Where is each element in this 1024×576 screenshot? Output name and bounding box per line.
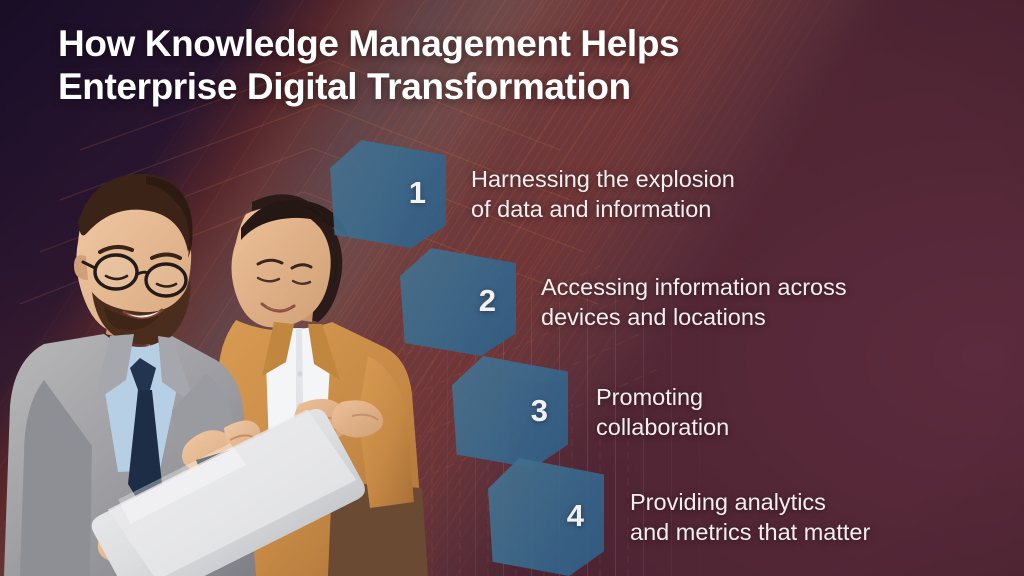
list-item-2: 2 Accessing information across devices a… (400, 248, 847, 356)
hexagon-number-3: 3 (531, 393, 568, 431)
list-item-2-line-1: Accessing information across (541, 272, 847, 302)
hexagon-number-1: 1 (409, 175, 446, 213)
hexagon-badge-2: 2 (400, 248, 516, 356)
slide-title: How Knowledge Management Helps Enterpris… (58, 22, 918, 109)
hexagon-number-2: 2 (479, 283, 516, 321)
list-item-1: 1 Harnessing the explosion of data and i… (330, 140, 735, 248)
list-item-3-line-2: collaboration (596, 412, 729, 442)
hexagon-badge-3: 3 (452, 356, 568, 468)
list-item-4-line-1: Providing analytics (630, 487, 870, 517)
list-item-1-line-1: Harnessing the explosion (471, 164, 735, 194)
title-line-1: How Knowledge Management Helps (58, 22, 918, 65)
slide-canvas: How Knowledge Management Helps Enterpris… (0, 0, 1024, 576)
list-item-1-text: Harnessing the explosion of data and inf… (471, 164, 735, 224)
list-item-1-line-2: of data and information (471, 194, 735, 224)
hexagon-badge-4: 4 (488, 458, 604, 576)
list-item-2-line-2: devices and locations (541, 302, 847, 332)
hexagon-badge-1: 1 (330, 140, 446, 248)
list-item-3-line-1: Promoting (596, 382, 729, 412)
list-item-4-text: Providing analytics and metrics that mat… (630, 487, 870, 547)
list-item-4: 4 Providing analytics and metrics that m… (488, 458, 870, 576)
list-item-4-line-2: and metrics that matter (630, 517, 870, 547)
list-item-3: 3 Promoting collaboration (452, 356, 729, 468)
list-item-2-text: Accessing information across devices and… (541, 272, 847, 332)
list-item-3-text: Promoting collaboration (596, 382, 729, 442)
hexagon-number-4: 4 (567, 498, 604, 536)
title-line-2: Enterprise Digital Transformation (58, 65, 918, 108)
